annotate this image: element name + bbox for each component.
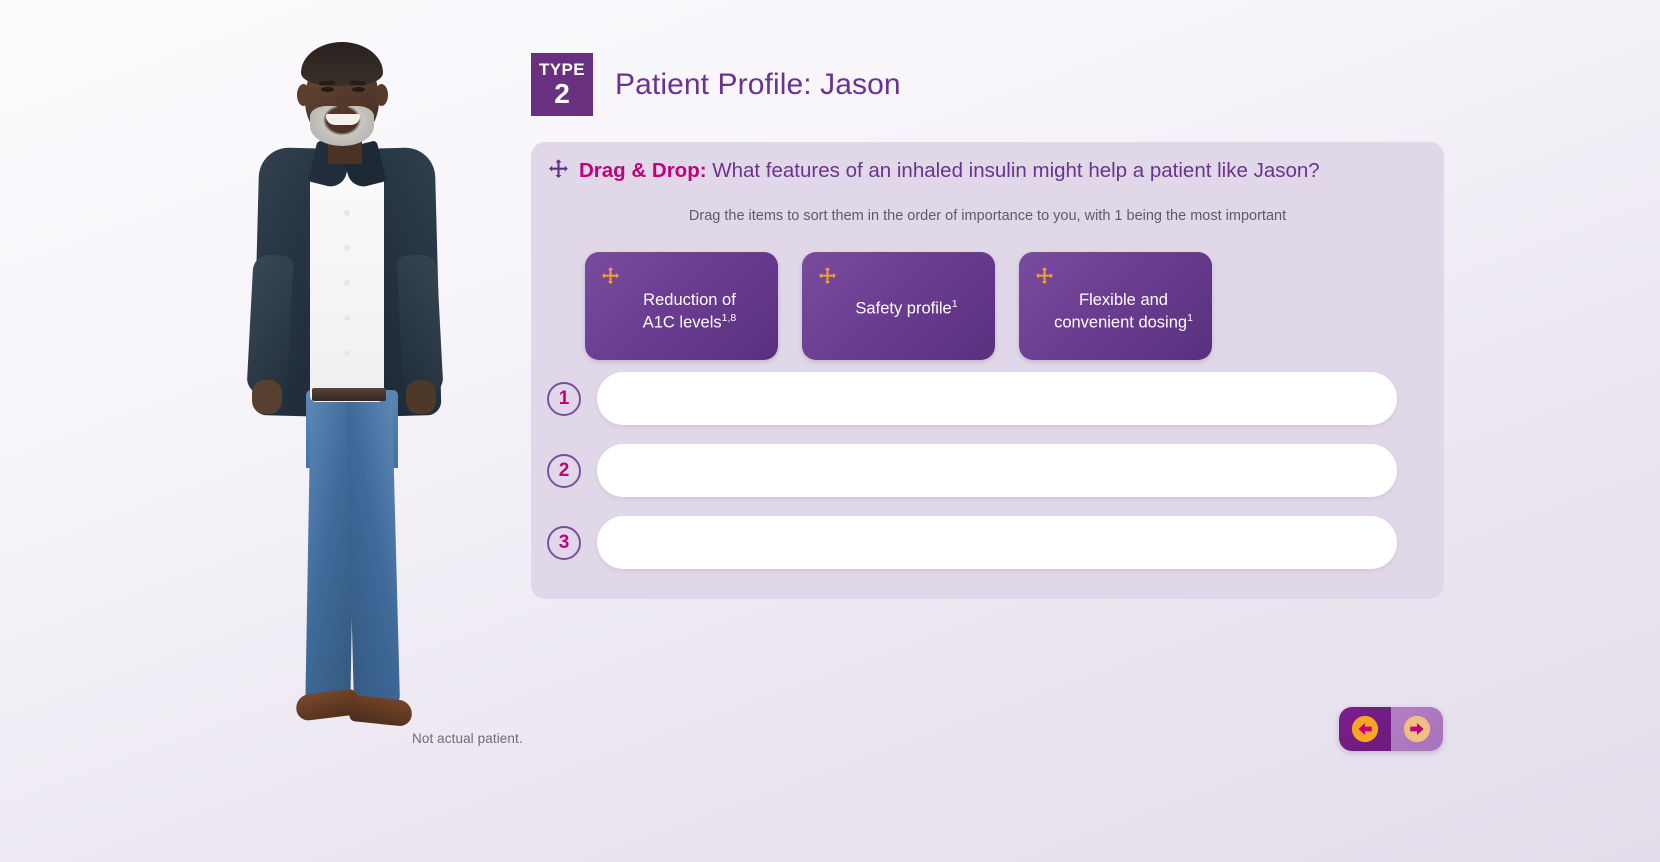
photo-ear-left	[297, 84, 310, 106]
photo-beard	[310, 106, 374, 146]
card-superscript: 1,8	[722, 312, 737, 324]
activity-prompt-text: Drag & Drop: What features of an inhaled…	[579, 158, 1320, 184]
dropzone-row: 1	[533, 370, 1446, 427]
drag-and-drop-activity-panel: Drag & Drop: What features of an inhaled…	[531, 142, 1444, 599]
photo-hair	[301, 42, 383, 86]
photo-hand-right	[406, 380, 436, 414]
photo-nose	[336, 95, 349, 111]
photo-eye-left	[321, 87, 334, 92]
draggable-card-reduction-a1c[interactable]: Reduction of A1C levels1,8	[585, 252, 778, 360]
arrow-left-icon	[1350, 714, 1380, 744]
dropzone-row: 2	[533, 442, 1446, 499]
card-label: Flexible and convenient dosing1	[1019, 290, 1198, 334]
type-badge-word: TYPE	[539, 61, 585, 78]
photo-hand-left	[252, 380, 282, 414]
diabetes-type-badge: TYPE 2	[531, 53, 593, 116]
photo-mouth	[326, 114, 360, 125]
card-line-1: Flexible and	[1079, 291, 1168, 309]
photo-sleeve-right	[396, 254, 443, 396]
photo-ear-right	[375, 84, 388, 106]
card-line-1: Safety profile	[855, 300, 951, 318]
photo-shirt-button	[344, 315, 350, 321]
card-line-2: convenient dosing	[1054, 313, 1187, 331]
photo-shirt-button	[344, 210, 350, 216]
card-line-2: A1C levels	[643, 313, 722, 331]
card-superscript: 1	[952, 298, 958, 310]
photo-jeans-right	[346, 395, 400, 708]
rank-circle-1: 1	[547, 382, 581, 416]
photo-caption: Not actual patient.	[412, 731, 523, 746]
photo-shirt-button	[344, 280, 350, 286]
move-icon	[601, 266, 620, 290]
page-title: Patient Profile: Jason	[615, 68, 901, 102]
arrow-right-icon	[1402, 714, 1432, 744]
draggable-card-flexible-dosing[interactable]: Flexible and convenient dosing1	[1019, 252, 1212, 360]
card-label: Reduction of A1C levels1,8	[585, 290, 764, 334]
activity-prompt-row: Drag & Drop: What features of an inhaled…	[548, 156, 1428, 184]
photo-shoe-right	[349, 695, 413, 727]
navigation-buttons	[1339, 707, 1443, 751]
page-header: TYPE 2 Patient Profile: Jason	[531, 53, 901, 116]
activity-question: What features of an inhaled insulin migh…	[712, 159, 1319, 182]
card-label: Safety profile1	[802, 298, 981, 320]
card-line-1: Reduction of	[643, 291, 736, 309]
drag-drop-label: Drag & Drop:	[579, 159, 707, 182]
photo-tshirt	[310, 152, 384, 402]
activity-instruction: Drag the items to sort them in the order…	[531, 208, 1444, 224]
photo-belt	[312, 388, 386, 401]
patient-photo	[200, 40, 490, 745]
draggable-cards-container: Reduction of A1C levels1,8 Safety profil…	[585, 252, 1212, 360]
card-superscript: 1	[1187, 312, 1193, 324]
previous-slide-button[interactable]	[1339, 707, 1391, 751]
photo-shirt-button	[344, 245, 350, 251]
next-slide-button[interactable]	[1391, 707, 1443, 751]
draggable-card-safety-profile[interactable]: Safety profile1	[802, 252, 995, 360]
move-icon	[548, 158, 569, 184]
photo-eye-right	[352, 87, 365, 92]
move-icon	[1035, 266, 1054, 290]
rank-circle-2: 2	[547, 454, 581, 488]
rank-circle-3: 3	[547, 526, 581, 560]
dropzone-slot-2[interactable]	[597, 444, 1397, 497]
photo-shirt-button	[344, 350, 350, 356]
photo-sleeve-left	[246, 254, 293, 396]
dropzone-slot-1[interactable]	[597, 372, 1397, 425]
type-badge-number: 2	[554, 80, 570, 108]
dropzone-row: 3	[533, 514, 1446, 571]
dropzone-slot-3[interactable]	[597, 516, 1397, 569]
move-icon	[818, 266, 837, 290]
dropzones-container: 1 2 3	[533, 370, 1446, 586]
